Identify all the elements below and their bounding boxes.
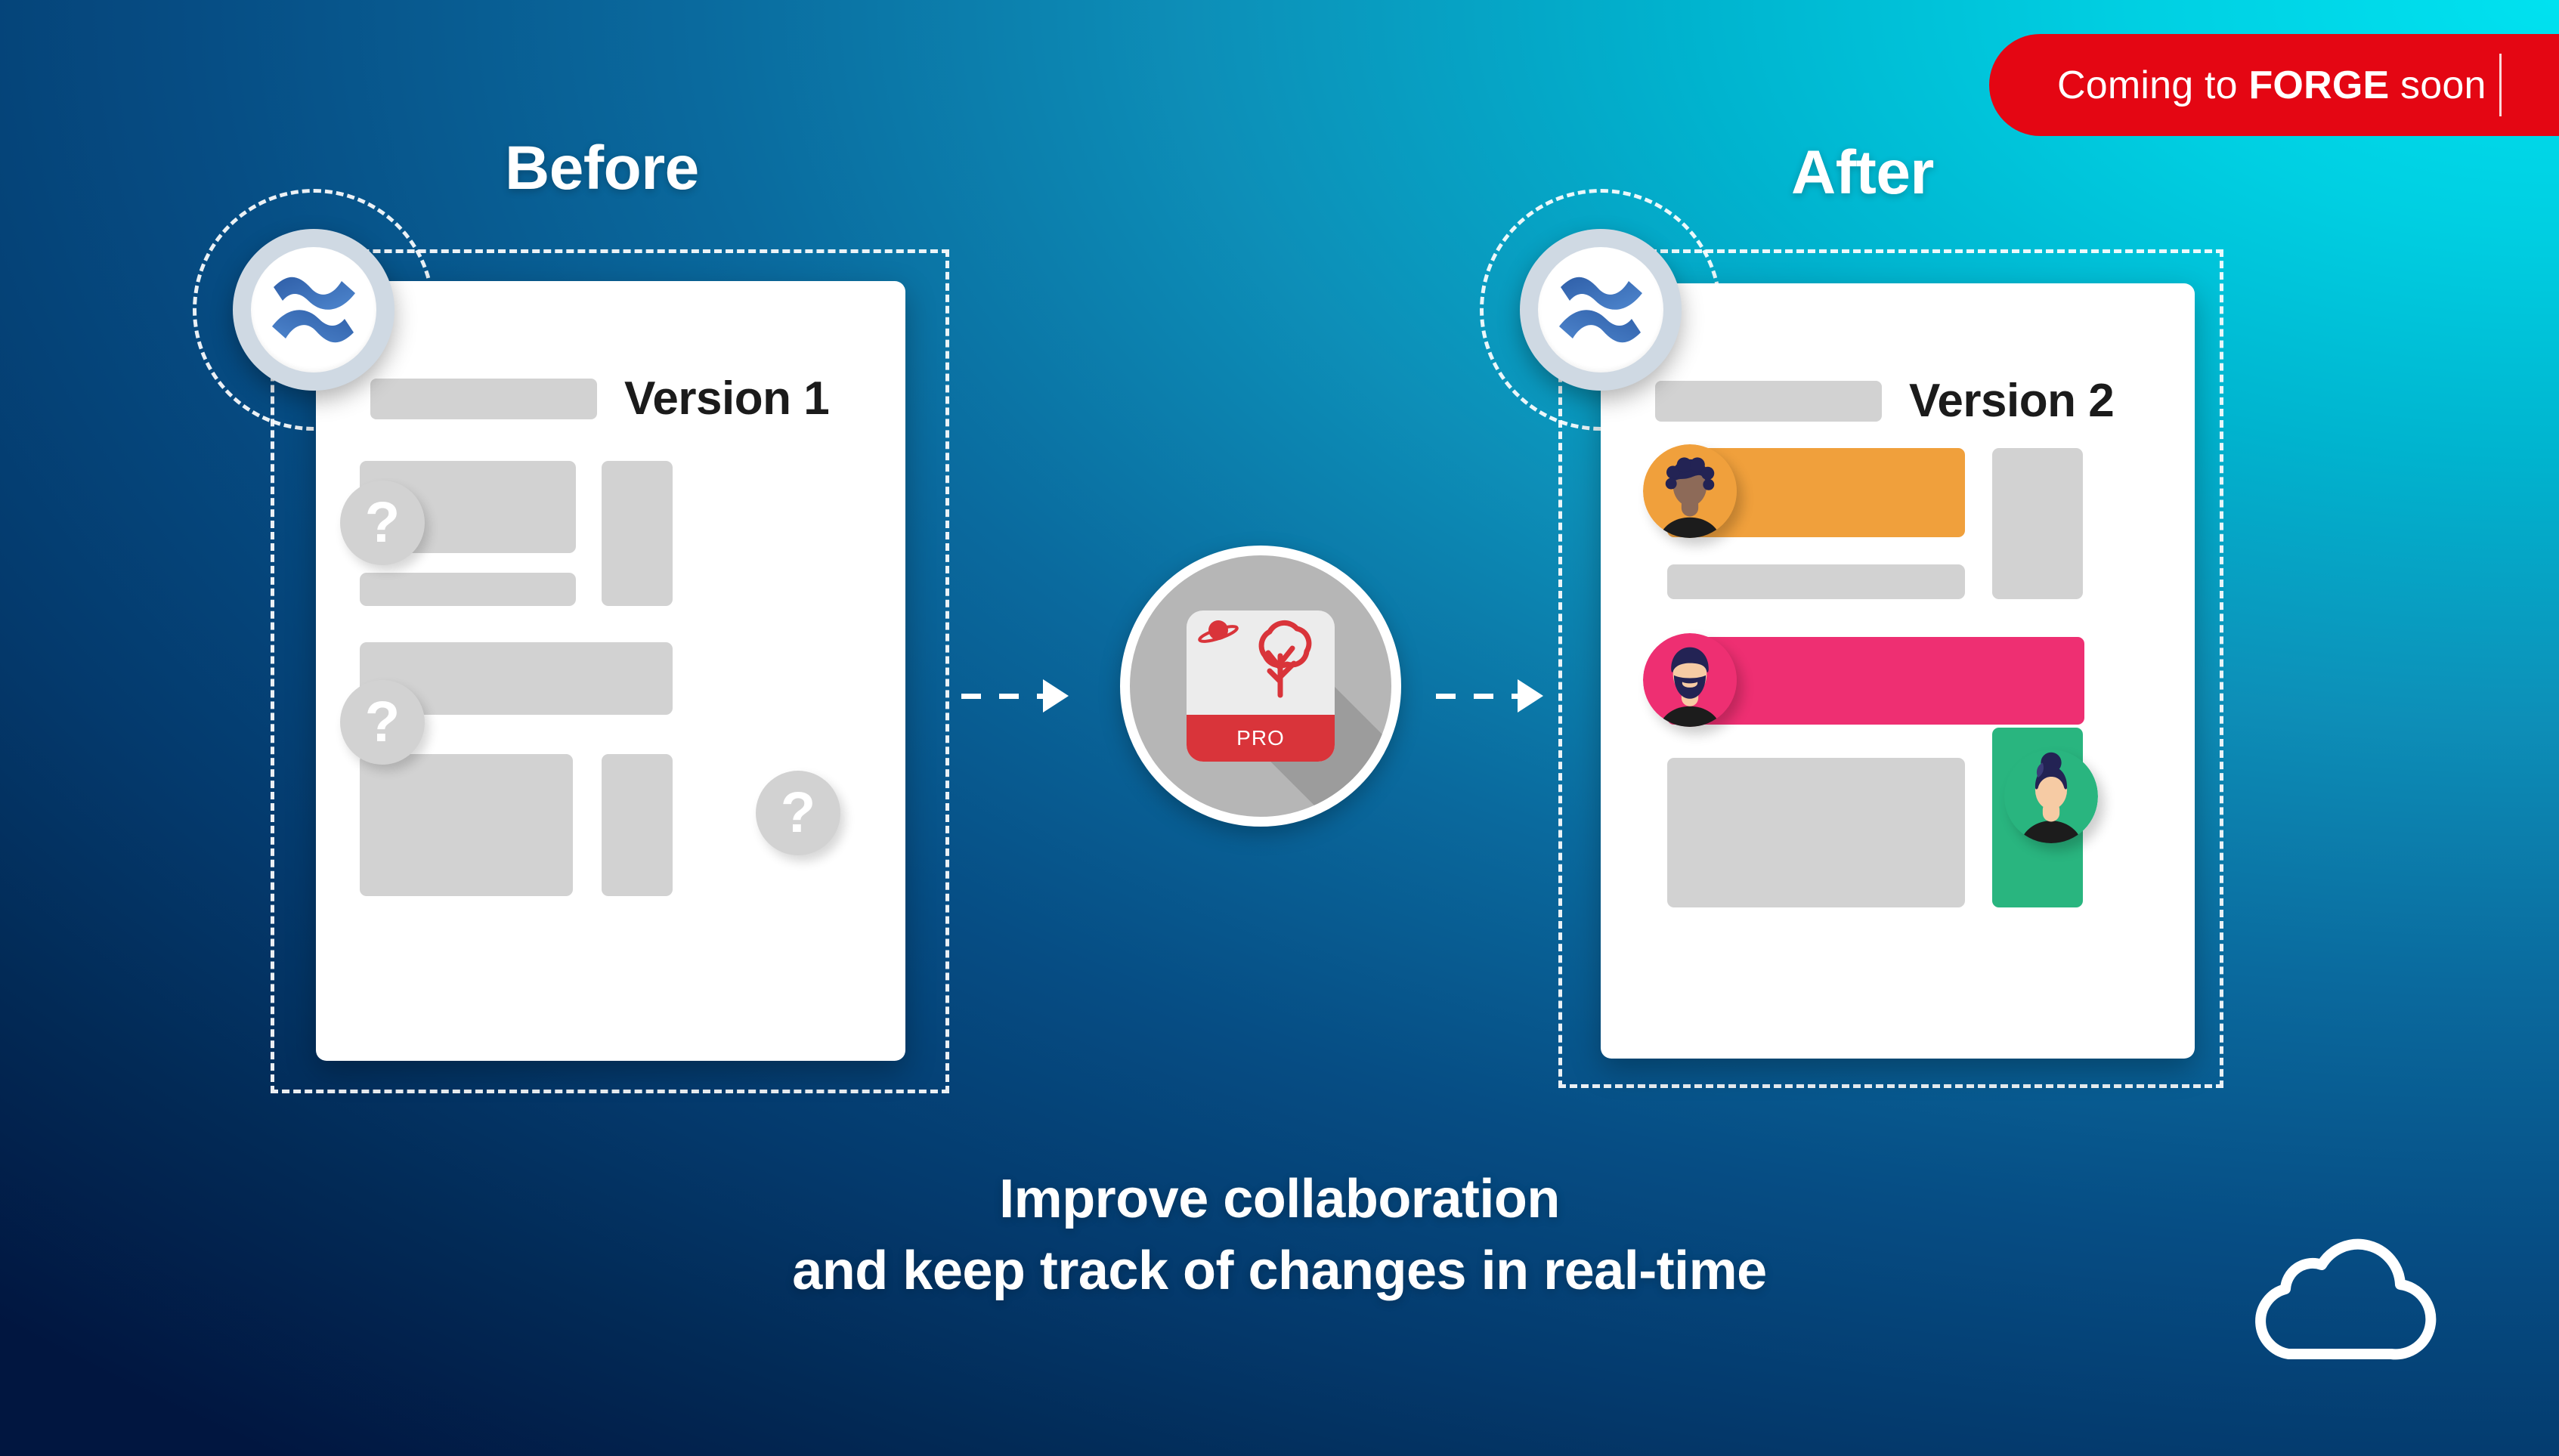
confluence-logo-badge-after[interactable]	[1520, 229, 1682, 391]
forge-badge-prefix: Coming to	[2057, 63, 2248, 107]
content-block	[360, 754, 573, 896]
heading-after: After	[1791, 138, 1934, 209]
app-icon-tile: PRO	[1187, 611, 1335, 762]
content-block	[1667, 758, 1965, 907]
heading-before: Before	[505, 133, 699, 204]
unknown-author-mark: ?	[365, 694, 400, 751]
badge-divider	[2499, 54, 2502, 116]
confluence-logo-badge-before[interactable]	[233, 229, 395, 391]
unknown-author-mark: ?	[365, 494, 400, 552]
content-block	[602, 754, 673, 896]
unknown-author-mark: ?	[781, 784, 815, 842]
avatar-orange-graphic	[1643, 444, 1737, 538]
app-icon-tier-band: PRO	[1187, 715, 1335, 762]
confluence-logo-icon	[1556, 270, 1645, 349]
avatar-green-graphic	[2004, 750, 2098, 843]
arrow-head-icon	[1518, 679, 1543, 713]
forge-badge-text: Coming to FORGE soon	[2057, 63, 2486, 108]
planet-icon	[1198, 620, 1238, 645]
cloud-icon	[2243, 1233, 2440, 1369]
cloud-icon-graphic	[2243, 1233, 2440, 1369]
before-title-row: Version 1	[370, 372, 829, 425]
content-block	[602, 461, 673, 606]
forge-badge-suffix: soon	[2389, 63, 2486, 107]
after-version-label: Version 2	[1909, 374, 2114, 428]
arrow-line	[1436, 694, 1519, 699]
avatar-user-green[interactable]	[2004, 750, 2098, 843]
arrow-line	[961, 694, 1044, 699]
content-block	[1992, 448, 2083, 599]
confluence-logo-icon	[269, 270, 358, 349]
title-placeholder-block	[1655, 381, 1882, 422]
avatar-user-orange[interactable]	[1643, 444, 1737, 538]
before-version-label: Version 1	[624, 372, 829, 425]
app-icon-artwork	[1187, 611, 1335, 716]
title-placeholder-block	[370, 379, 597, 419]
flow-arrow-left	[961, 692, 1069, 700]
confluence-logo-inner	[1538, 247, 1663, 373]
forge-badge-brand: FORGE	[2248, 63, 2389, 107]
content-block	[1667, 564, 1965, 599]
unknown-author-badge[interactable]: ?	[340, 481, 425, 565]
avatar-user-pink[interactable]	[1643, 633, 1737, 727]
content-block	[360, 573, 576, 606]
flow-arrow-right	[1436, 692, 1543, 700]
before-document-card[interactable]: Version 1	[316, 281, 905, 1061]
confluence-logo-inner	[251, 247, 376, 373]
app-icon-tier-label: PRO	[1236, 726, 1285, 750]
after-title-row: Version 2	[1655, 374, 2114, 428]
arrow-head-icon	[1043, 679, 1069, 713]
unknown-author-badge[interactable]: ?	[340, 680, 425, 765]
caption-line-1: Improve collaboration	[0, 1164, 2559, 1235]
unknown-author-badge[interactable]: ?	[756, 771, 840, 855]
infographic-canvas: Coming to FORGE soon Before After Versio…	[0, 0, 2559, 1456]
app-icon-circle[interactable]: PRO	[1120, 546, 1401, 827]
caption-line-2: and keep track of changes in real-time	[0, 1235, 2559, 1307]
tree-icon	[1261, 623, 1309, 695]
caption: Improve collaboration and keep track of …	[0, 1164, 2559, 1307]
coming-to-forge-badge[interactable]: Coming to FORGE soon	[1989, 34, 2559, 136]
avatar-pink-graphic	[1643, 633, 1737, 727]
